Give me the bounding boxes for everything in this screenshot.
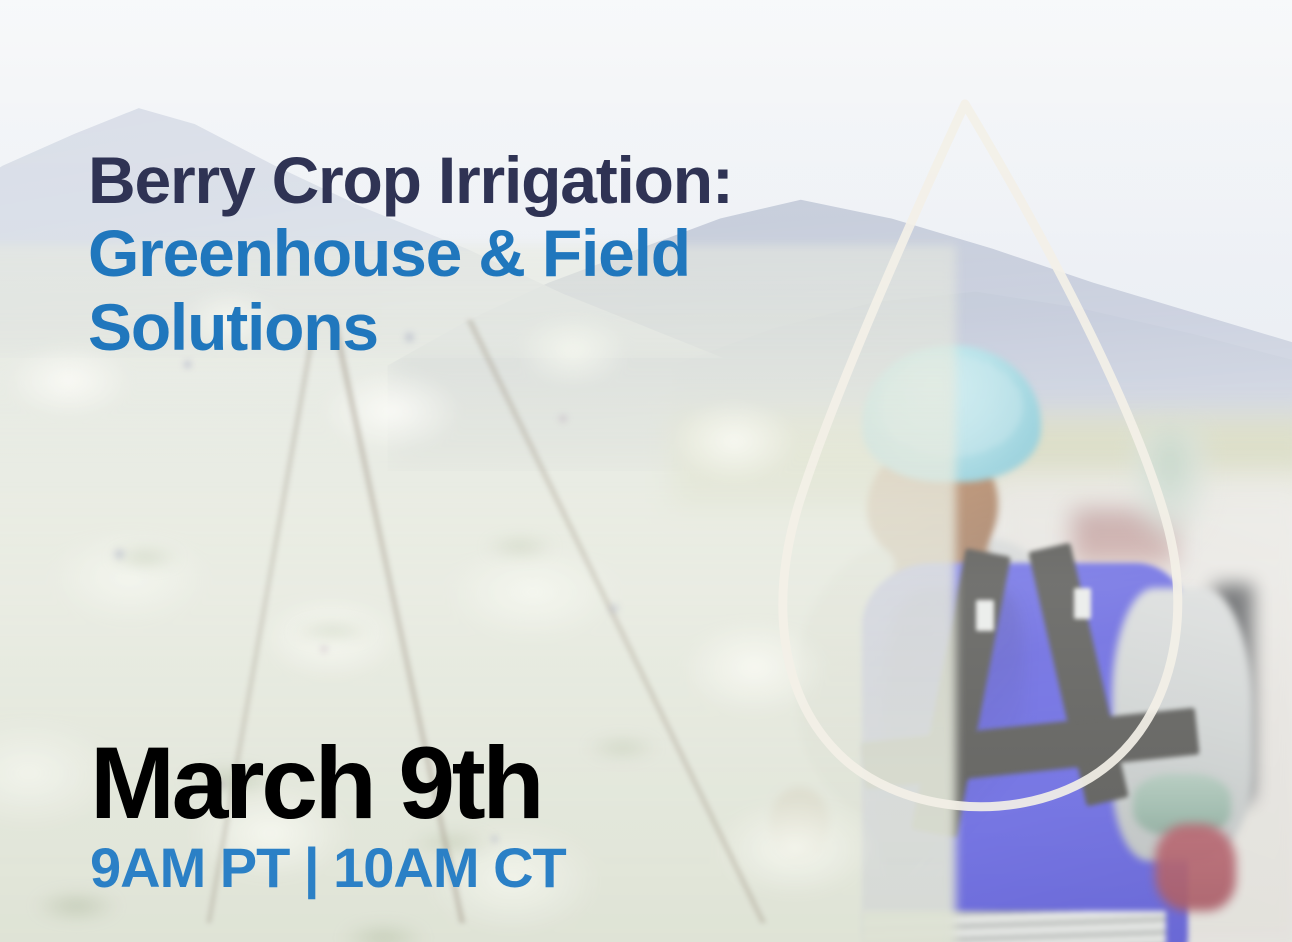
webinar-promo-banner: Berry Crop Irrigation: Greenhouse & Fiel…: [0, 0, 1292, 942]
schedule-block: March 9th 9AM PT | 10AM CT: [90, 736, 566, 897]
headline-line-2: Greenhouse & Field: [88, 217, 848, 290]
headline-line-1: Berry Crop Irrigation:: [88, 144, 848, 217]
headline-line-3: Solutions: [88, 291, 848, 364]
event-date: March 9th: [90, 736, 566, 832]
event-time: 9AM PT | 10AM CT: [90, 838, 566, 897]
page-title: Berry Crop Irrigation: Greenhouse & Fiel…: [88, 144, 848, 364]
